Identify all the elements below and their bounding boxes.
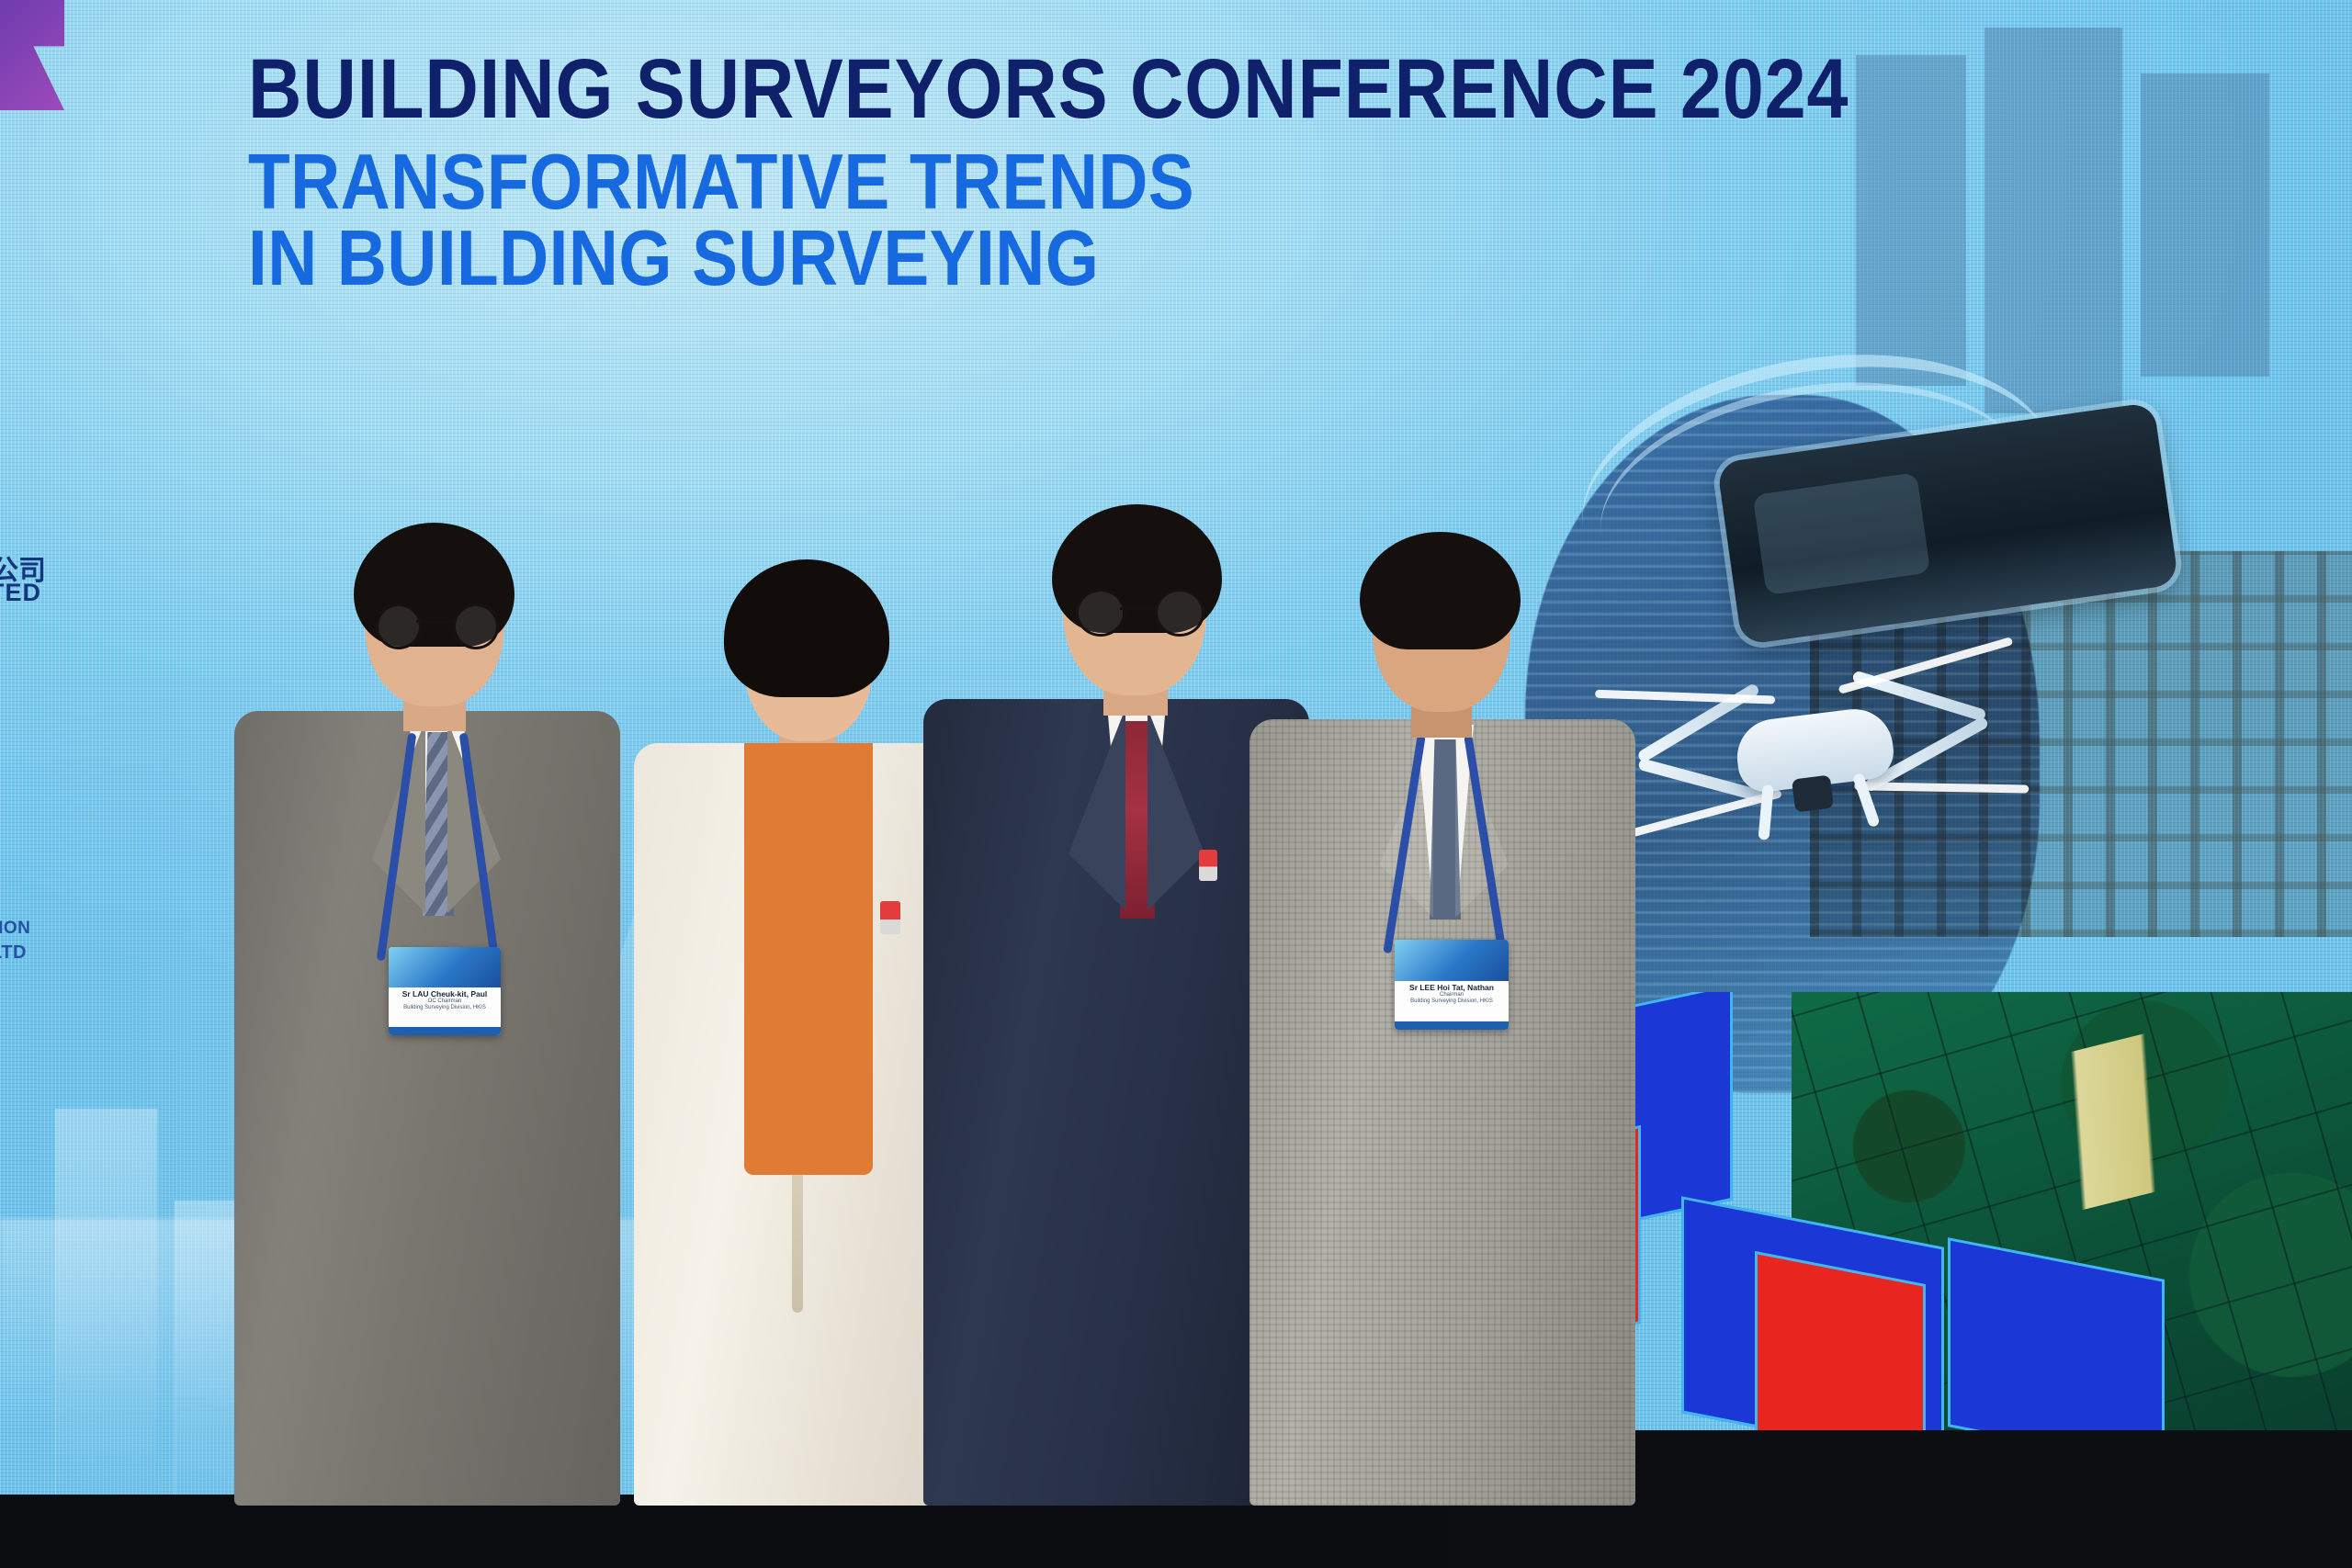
eyeglass-lens bbox=[376, 604, 422, 649]
eyeglass-lens bbox=[1076, 589, 1125, 637]
badge-header-graphic bbox=[1395, 940, 1509, 981]
badge-org: Building Surveying Division, HKIS bbox=[1395, 998, 1509, 1005]
eyeglass-bridge bbox=[416, 620, 453, 623]
drone-propeller bbox=[1837, 637, 2013, 694]
badge-name: Sr LAU Cheuk-kit, Paul bbox=[389, 990, 501, 998]
person-right: Sr LEE Hoi Tat, Nathan Chairman Building… bbox=[1249, 532, 1635, 1506]
person-left: Sr LAU Cheuk-kit, Paul OC Chairman Build… bbox=[234, 523, 620, 1506]
eyeglass-lens bbox=[1155, 589, 1204, 637]
conference-subtitle-line2: IN BUILDING SURVEYING bbox=[248, 220, 1986, 299]
eyeglass-lens bbox=[453, 604, 499, 649]
conference-subtitle-line1: TRANSFORMATIVE TRENDS bbox=[248, 143, 1986, 223]
drone-camera bbox=[1792, 775, 1834, 813]
sponsor-text-lower-2: LTD bbox=[0, 942, 27, 964]
conference-photo: BUILDING SURVEYORS CONFERENCE 2024 TRANS… bbox=[0, 0, 2352, 1568]
badge-role: OC Chairman bbox=[389, 998, 501, 1005]
badge-name: Sr LEE Hoi Tat, Nathan bbox=[1395, 984, 1509, 992]
sponsor-text-lower-1: TION bbox=[0, 919, 30, 939]
badge-org: Building Surveying Division, HKIS bbox=[389, 1005, 501, 1011]
drone-propeller bbox=[1854, 782, 2029, 793]
badge-role: Chairman bbox=[1395, 992, 1509, 998]
badge-footer-graphic bbox=[1395, 1021, 1509, 1030]
conference-title: BUILDING SURVEYORS CONFERENCE 2024 bbox=[248, 48, 1986, 130]
drone-propeller bbox=[1611, 789, 1782, 842]
sponsor-text-english: TED bbox=[0, 579, 41, 607]
backdrop-titles: BUILDING SURVEYORS CONFERENCE 2024 TRANS… bbox=[248, 48, 2223, 299]
name-badge: Sr LEE Hoi Tat, Nathan Chairman Building… bbox=[1395, 940, 1509, 1030]
badge-footer-graphic bbox=[389, 1027, 501, 1035]
badge-header-graphic bbox=[389, 947, 501, 987]
name-badge: Sr LAU Cheuk-kit, Paul OC Chairman Build… bbox=[389, 947, 501, 1035]
hair bbox=[1360, 532, 1521, 649]
lapel-pin bbox=[880, 901, 900, 934]
lapel-pin bbox=[1199, 850, 1217, 881]
hair bbox=[724, 559, 889, 697]
eyeglass-bridge bbox=[1120, 607, 1155, 610]
inner-top-front bbox=[744, 743, 873, 1175]
